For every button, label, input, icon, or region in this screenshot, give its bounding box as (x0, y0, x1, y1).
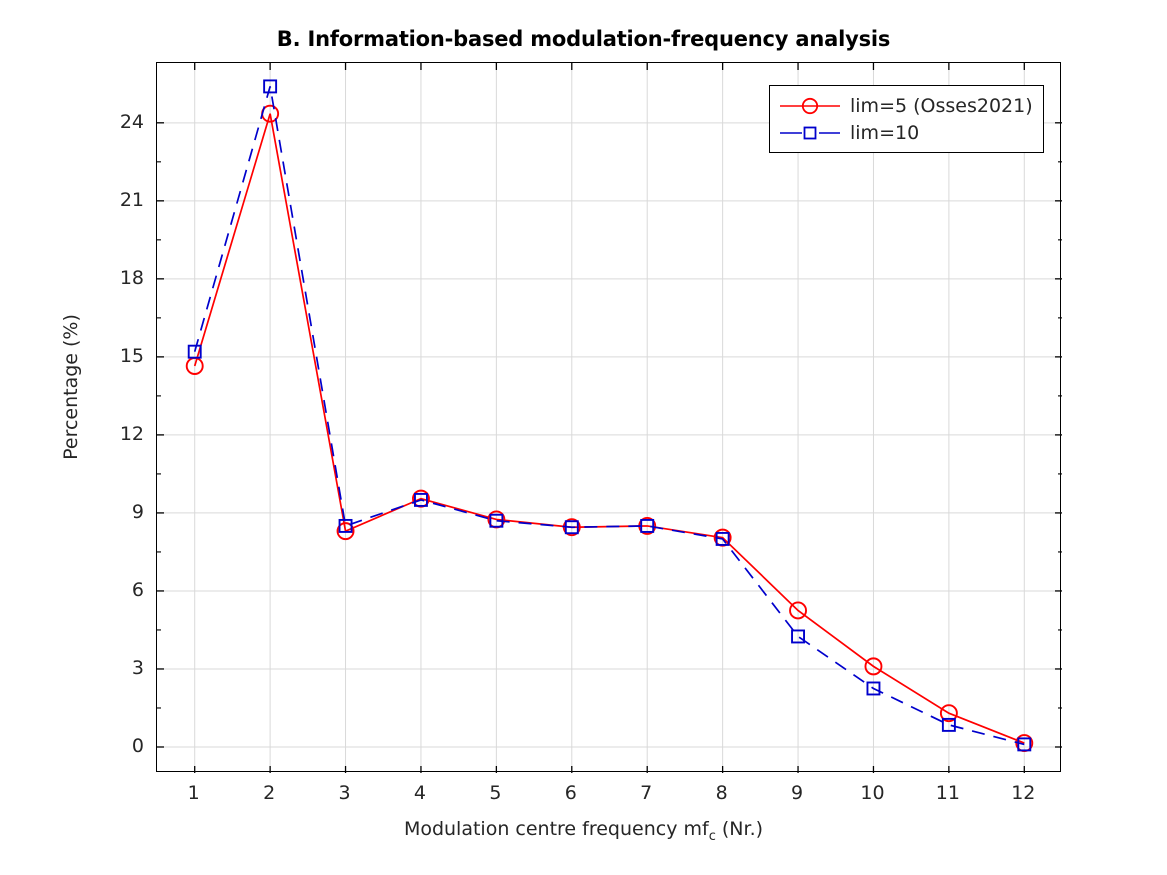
chart-title: B. Information-based modulation-frequenc… (0, 27, 1167, 51)
x-tick-label: 1 (188, 782, 200, 804)
y-tick-label: 18 (120, 267, 144, 289)
legend-sample-line-circle (778, 95, 842, 117)
series-line-0 (195, 114, 1025, 743)
x-tick-label: 2 (263, 782, 275, 804)
y-tick-label: 0 (132, 735, 144, 757)
y-axis-tick-labels: 03691215182124 (94, 62, 144, 772)
x-tick-label: 10 (860, 782, 884, 804)
y-tick-label: 3 (132, 657, 144, 679)
y-tick-label: 6 (132, 579, 144, 601)
x-axis-label: Modulation centre frequency mfc (Nr.) (0, 818, 1167, 840)
legend-item-0[interactable]: lim=5 (Osses2021) (778, 92, 1033, 119)
x-axis-label-suffix: (Nr.) (716, 818, 763, 840)
x-tick-label: 3 (338, 782, 350, 804)
x-axis-label-prefix: Modulation centre frequency mf (404, 818, 709, 840)
y-tick-label: 12 (120, 423, 144, 445)
x-tick-label: 6 (565, 782, 577, 804)
y-tick-label: 21 (120, 189, 144, 211)
x-axis-tick-labels: 123456789101112 (156, 782, 1061, 812)
y-tick-label: 15 (120, 345, 144, 367)
grid-lines (157, 63, 1062, 773)
y-tick-label: 9 (132, 501, 144, 523)
legend-label-1: lim=10 (850, 122, 919, 144)
plot-svg (157, 63, 1062, 773)
plot-area (156, 62, 1061, 772)
legend-sample-line-square (778, 122, 842, 144)
x-tick-label: 4 (414, 782, 426, 804)
y-axis-label: Percentage (%) (60, 257, 82, 517)
series-line-1 (195, 86, 1025, 744)
x-tick-label: 5 (489, 782, 501, 804)
x-axis-label-subscript: c (709, 829, 716, 844)
data-series-layer (187, 80, 1033, 751)
x-tick-label: 7 (640, 782, 652, 804)
figure-canvas: B. Information-based modulation-frequenc… (0, 0, 1167, 875)
x-tick-label: 8 (716, 782, 728, 804)
legend-label-0: lim=5 (Osses2021) (850, 95, 1033, 117)
x-tick-label: 9 (791, 782, 803, 804)
legend: lim=5 (Osses2021) lim=10 (769, 85, 1044, 153)
y-tick-label: 24 (120, 111, 144, 133)
x-tick-label: 11 (936, 782, 960, 804)
legend-item-1[interactable]: lim=10 (778, 119, 1033, 146)
axis-ticks (157, 63, 1062, 773)
x-tick-label: 12 (1011, 782, 1035, 804)
